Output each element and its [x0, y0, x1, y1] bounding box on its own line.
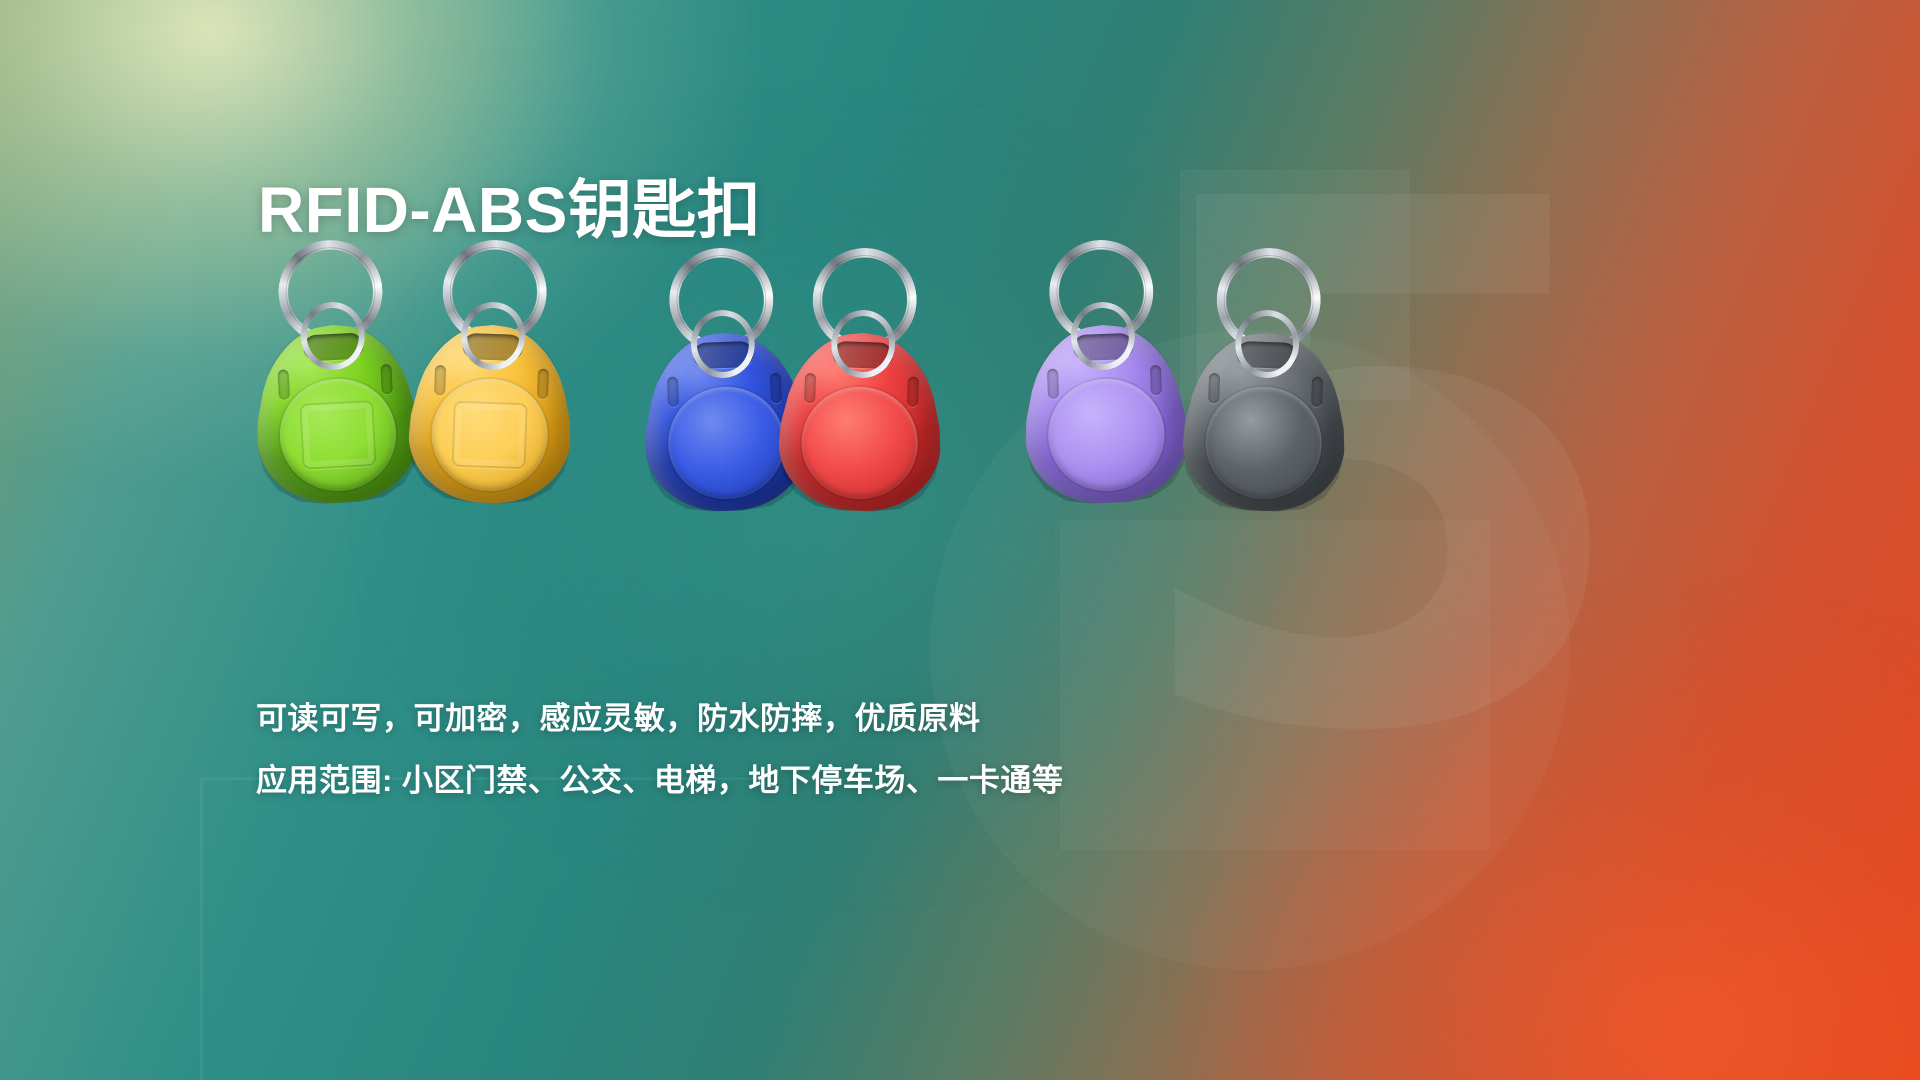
product-banner: 5 RFID-ABS钥匙扣 可读可写，可加密，感应灵敏，防水防摔，优质原料 应用… [0, 0, 1920, 1080]
noise-overlay [0, 0, 1920, 1080]
